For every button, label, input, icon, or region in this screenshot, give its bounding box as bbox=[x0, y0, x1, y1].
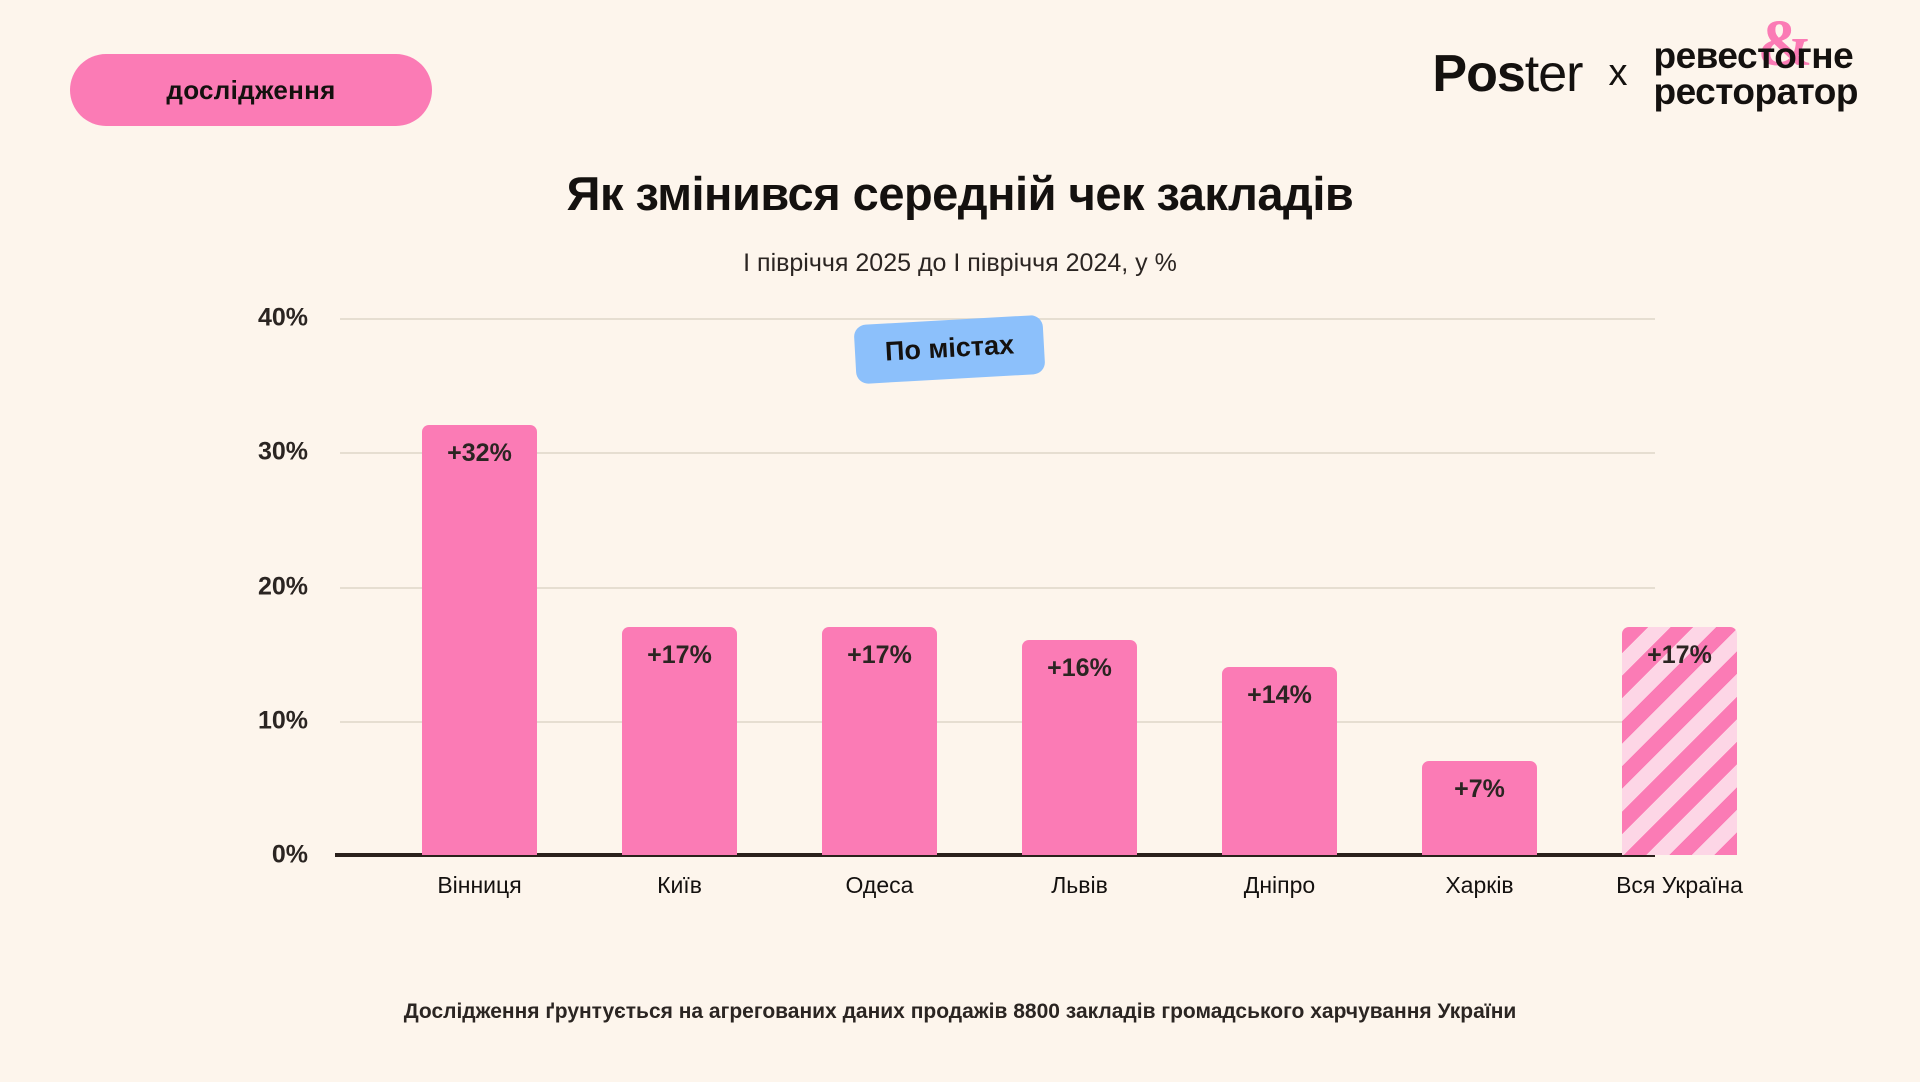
revestogne-restorator-logo: & ревестогне ресторатор bbox=[1653, 38, 1858, 110]
footnote: Дослідження ґрунтується на агрегованих д… bbox=[0, 1000, 1920, 1024]
bar-value-label: +16% bbox=[1022, 654, 1137, 683]
chart-plot-area: 40%30%20%10%0% +32%Вінниця+17%Київ+17%Од… bbox=[340, 318, 1655, 855]
poster-logo-bold: Pos bbox=[1432, 45, 1524, 103]
x-axis-tick-label: Дніпро bbox=[1200, 871, 1359, 899]
bar: +17% bbox=[622, 627, 737, 855]
poster-logo-light: ter bbox=[1525, 45, 1583, 103]
chart-page: дослідження Poster x & ревестогне рестор… bbox=[0, 0, 1920, 1082]
y-axis-tick-label: 0% bbox=[272, 841, 308, 870]
x-axis-tick-label: Одеса bbox=[800, 871, 959, 899]
logo-separator-x: x bbox=[1608, 52, 1627, 95]
logo-lockup: Poster x & ревестогне ресторатор bbox=[1432, 38, 1858, 110]
bar-value-label: +14% bbox=[1222, 681, 1337, 710]
research-badge: дослідження bbox=[70, 54, 432, 126]
bar-value-label: +32% bbox=[422, 439, 537, 468]
bar-value-label: +7% bbox=[1422, 775, 1537, 804]
chart-subtitle: І півріччя 2025 до І півріччя 2024, у % bbox=[0, 249, 1920, 278]
x-axis-tick-label: Київ bbox=[600, 871, 759, 899]
revestogne-logo-line2: ресторатор bbox=[1653, 74, 1858, 110]
bar-value-label: +17% bbox=[622, 641, 737, 670]
y-axis-tick-label: 10% bbox=[258, 706, 308, 735]
chart-title: Як змінився середній чек закладів bbox=[0, 166, 1920, 221]
y-axis-tick-label: 40% bbox=[258, 304, 308, 333]
y-axis-tick-label: 30% bbox=[258, 438, 308, 467]
bar: +17% bbox=[1622, 627, 1737, 855]
x-axis-tick-label: Вся Україна bbox=[1600, 871, 1759, 899]
bar: +16% bbox=[1022, 640, 1137, 855]
poster-logo: Poster bbox=[1432, 48, 1582, 100]
bar: +14% bbox=[1222, 667, 1337, 855]
bar: +7% bbox=[1422, 761, 1537, 855]
bar-value-label: +17% bbox=[1622, 641, 1737, 670]
x-axis-tick-label: Львів bbox=[1000, 871, 1159, 899]
revestogne-logo-line1: ревестогне bbox=[1653, 38, 1858, 74]
cities-badge: По містах bbox=[854, 315, 1046, 384]
x-axis-tick-label: Вінниця bbox=[400, 871, 559, 899]
x-axis-tick-label: Харків bbox=[1400, 871, 1559, 899]
y-axis-tick-label: 20% bbox=[258, 572, 308, 601]
bar: +32% bbox=[422, 425, 537, 855]
bar-value-label: +17% bbox=[822, 641, 937, 670]
bar: +17% bbox=[822, 627, 937, 855]
bar-series: +32%Вінниця+17%Київ+17%Одеса+16%Львів+14… bbox=[340, 318, 1655, 855]
